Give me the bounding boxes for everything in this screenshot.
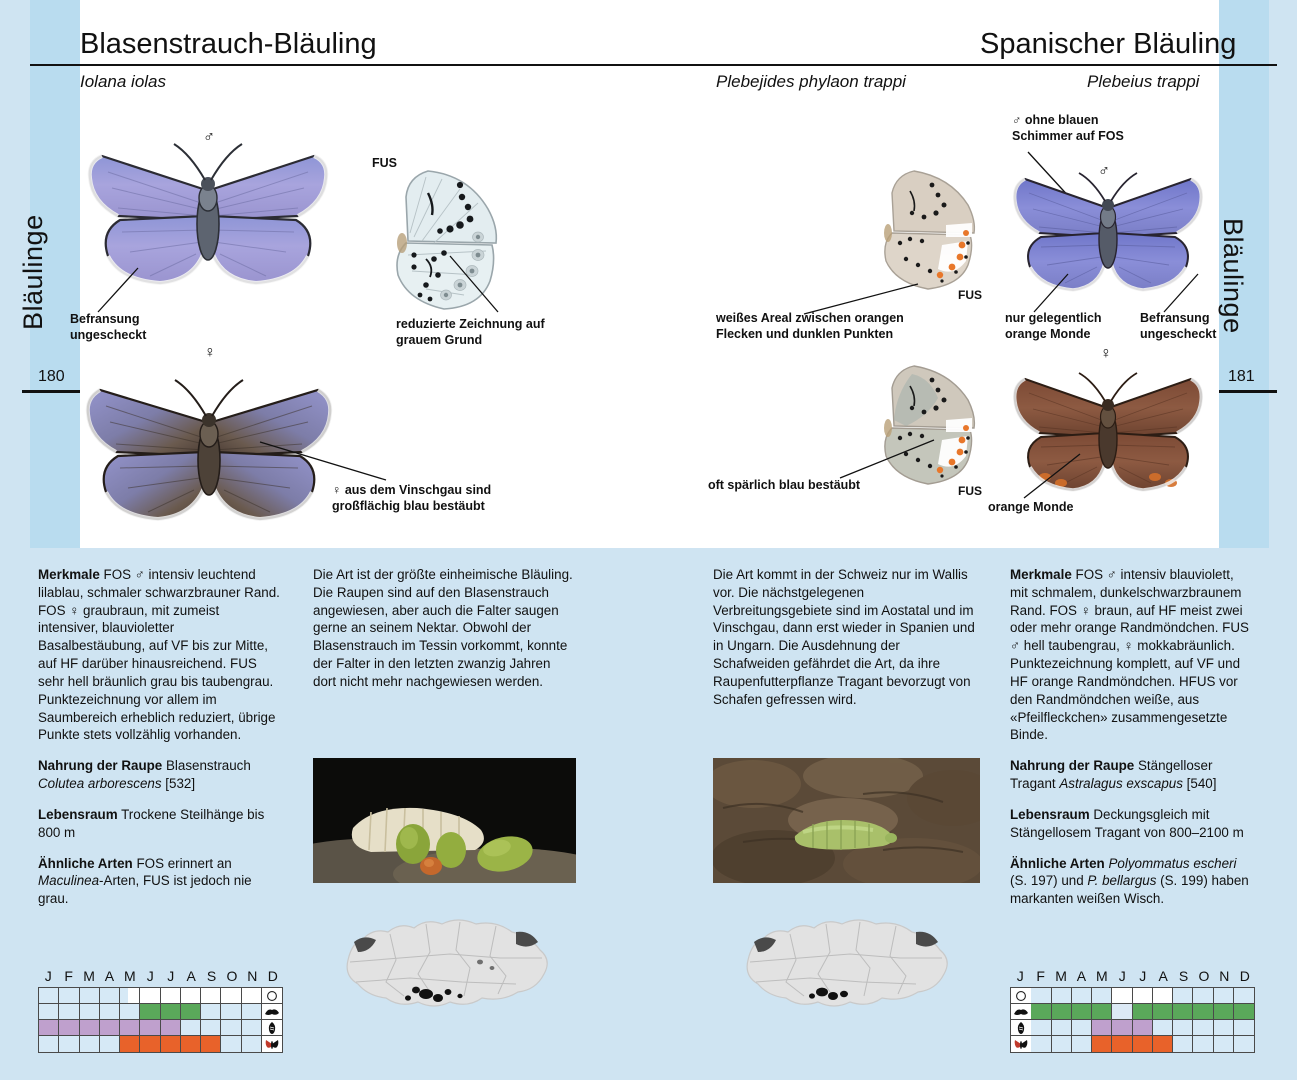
photo-caterpillar-with-pods: [313, 758, 576, 883]
distribution-map-left: [330, 898, 570, 1033]
month-label: N: [242, 968, 262, 984]
label-merkmale-right: Merkmale: [1010, 567, 1072, 582]
calendar-cell: [1153, 1036, 1173, 1052]
annotation-orange-monde: orange Monde: [988, 500, 1073, 516]
month-label: A: [1153, 968, 1173, 984]
calendar-row-caterpillar: [1011, 1004, 1254, 1020]
pupa-icon: [1011, 1020, 1031, 1035]
annotation-weisses-areal: weißes Areal zwischen orangen Flecken un…: [716, 311, 904, 342]
calendar-cell: [242, 1036, 262, 1052]
calendar-cell: [221, 988, 241, 1003]
calendar-cells: [39, 1036, 282, 1052]
calendar-cell: [1031, 1020, 1051, 1035]
calendar-cell: [1031, 1036, 1051, 1052]
calendar-cell: [161, 1004, 181, 1019]
calendar-row-pupa: [39, 1020, 282, 1036]
label-nahrung-right: Nahrung der Raupe: [1010, 758, 1134, 773]
calendar-cell: [242, 1004, 262, 1019]
calendar-cell: [39, 988, 59, 1003]
calendar-cell: [1193, 1020, 1213, 1035]
page-number-rule-left: [22, 390, 80, 393]
female-symbol-left-lower: ♀: [204, 344, 216, 362]
month-label: O: [1194, 968, 1214, 984]
calendar-cell: [120, 1020, 140, 1035]
butterfly-iolas-male-upperside: [78, 120, 338, 310]
calendar-cell: [80, 1020, 100, 1035]
calendar-cell: [1234, 1020, 1254, 1035]
annotation-gelegentlich-line1: nur gelegentlich: [1005, 311, 1102, 325]
calendar-cells: [39, 1004, 282, 1019]
annotation-schimmer-line1: ♂ ohne blauen: [1012, 113, 1098, 127]
paragraph-lebensraum-right: Lebensraum Deckungsgleich mit Stängellos…: [1010, 806, 1253, 842]
calendar-cell: [181, 1036, 201, 1052]
female-symbol-right-lower: ♀: [1100, 345, 1112, 363]
calendar-cell: [1133, 1036, 1153, 1052]
calendar-cell: [1112, 988, 1132, 1003]
month-label: F: [1030, 968, 1050, 984]
calendar-cell: [1193, 1004, 1213, 1019]
calendar-cell: [161, 1020, 181, 1035]
calendar-cell: [1133, 988, 1153, 1003]
page-number-right: 181: [1228, 368, 1255, 386]
butterfly-trappi-male-underside: [880, 165, 992, 295]
header-rule-left: [30, 64, 700, 66]
annotation-vinschgau: ♀ aus dem Vinschgau sind großflächig bla…: [332, 483, 491, 514]
calendar-cell: [1052, 1004, 1072, 1019]
text-column-narrative-right: Die Art kommt in der Schweiz nur im Wall…: [713, 566, 978, 709]
calendar-cell: [161, 988, 181, 1003]
calendar-cell: [1214, 1004, 1234, 1019]
calendar-cell: [1193, 988, 1213, 1003]
label-lebensraum-right: Lebensraum: [1010, 807, 1090, 822]
text-column-narrative-left: Die Art ist der größte einheimische Bläu…: [313, 566, 575, 691]
calendar-cell: [1173, 1036, 1193, 1052]
paragraph-nahrung-left: Nahrung der Raupe Blasenstrauch Colutea …: [38, 757, 281, 793]
annotation-reduzierte-line2: grauem Grund: [396, 333, 482, 347]
calendar-cell: [1092, 1036, 1112, 1052]
calendar-cells: [1011, 1020, 1254, 1035]
body-aehnliche-right-italic2: P. bellargus: [1087, 873, 1156, 888]
calendar-cell: [1092, 988, 1112, 1003]
calendar-cell: [1234, 1036, 1254, 1052]
month-label: J: [1010, 968, 1030, 984]
annotation-weisses-areal-line1: weißes Areal zwischen orangen: [716, 311, 904, 325]
month-label: A: [99, 968, 119, 984]
scientific-name-right-primary: Plebejides phylaon trappi: [716, 72, 906, 92]
calendar-cells: [1011, 988, 1254, 1003]
month-label: J: [1132, 968, 1152, 984]
male-symbol-left-upper: ♂: [203, 129, 215, 147]
calendar-cell: [1031, 988, 1051, 1003]
calendar-cell: [201, 988, 221, 1003]
calendar-cell: [181, 1020, 201, 1035]
calendar-cell: [1072, 1036, 1092, 1052]
calendar-row-butterfly: [1011, 1036, 1254, 1052]
annotation-spaerlich-blau: oft spärlich blau bestäubt: [708, 478, 860, 494]
annotation-vinschgau-line2: großflächig blau bestäubt: [332, 499, 485, 513]
calendar-cell: [100, 1036, 120, 1052]
calendar-cell: [1112, 1004, 1132, 1019]
annotation-schimmer-line2: Schimmer auf FOS: [1012, 129, 1124, 143]
calendar-cell: [1214, 1020, 1234, 1035]
body-aehnliche-left-pre: FOS erinnert an: [133, 856, 232, 871]
calendar-cell: [80, 988, 100, 1003]
butterfly-iolas-female-upperside: [78, 360, 340, 540]
calendar-cell: [80, 1036, 100, 1052]
month-label: M: [79, 968, 99, 984]
calendar-cell: [1153, 988, 1173, 1003]
month-label: S: [1173, 968, 1193, 984]
section-tab-label-left: Bläulinge: [18, 214, 49, 330]
butterfly-icon: [1011, 1036, 1031, 1052]
calendar-cell: [221, 1004, 241, 1019]
calendar-cell: [1214, 988, 1234, 1003]
calendar-cell: [1112, 1036, 1132, 1052]
body-aehnliche-right-mid: (S. 197) und: [1010, 873, 1087, 888]
annotation-reduzierte-zeichnung: reduzierte Zeichnung auf grauem Grund: [396, 317, 545, 348]
month-label: M: [1092, 968, 1112, 984]
calendar-cell: [80, 1004, 100, 1019]
annotation-gelegentlich-orange-monde: nur gelegentlich orange Monde: [1005, 311, 1102, 342]
annotation-befransung-right-line2: ungescheckt: [1140, 327, 1216, 341]
page-number-left: 180: [38, 368, 65, 386]
body-merkmale-left: FOS ♂ intensiv leuchtend lilablau, schma…: [38, 567, 280, 742]
calendar-grid-left: [38, 987, 283, 1053]
annotation-weisses-areal-line2: Flecken und dunklen Punkten: [716, 327, 893, 341]
header-rule-right: [700, 64, 1277, 66]
annotation-gelegentlich-line2: orange Monde: [1005, 327, 1090, 341]
annotation-reduzierte-line1: reduzierte Zeichnung auf: [396, 317, 545, 331]
calendar-cell: [201, 1020, 221, 1035]
text-column-merkmale-right: Merkmale FOS ♂ intensiv blauviolett, mit…: [1010, 566, 1253, 908]
calendar-cell: [59, 1036, 79, 1052]
calendar-cell: [59, 1004, 79, 1019]
month-label: J: [140, 968, 160, 984]
month-label: A: [181, 968, 201, 984]
calendar-cell: [1133, 1020, 1153, 1035]
label-merkmale-left: Merkmale: [38, 567, 100, 582]
calendar-cell: [181, 1004, 201, 1019]
label-aehnliche-left: Ähnliche Arten: [38, 856, 133, 871]
month-label: A: [1071, 968, 1091, 984]
body-nahrung-right-post: [540]: [1183, 776, 1217, 791]
male-symbol-right-upper: ♂: [1098, 163, 1110, 181]
book-spread: Bläulinge Bläulinge 180 181 Blasenstrauc…: [0, 0, 1297, 1080]
calendar-cell: [1031, 1004, 1051, 1019]
month-label: J: [160, 968, 180, 984]
calendar-cell: [242, 1020, 262, 1035]
calendar-cell: [59, 988, 79, 1003]
scientific-name-right-secondary: Plebeius trappi: [1087, 72, 1199, 92]
calendar-cell: [201, 1004, 221, 1019]
paragraph-nahrung-right: Nahrung der Raupe Stängelloser Tragant A…: [1010, 757, 1253, 793]
body-merkmale-right: FOS ♂ intensiv blauviolett, mit schmalem…: [1010, 567, 1249, 742]
calendar-cell: [1173, 1020, 1193, 1035]
calendar-cell: [140, 1036, 160, 1052]
label-lebensraum-left: Lebensraum: [38, 807, 118, 822]
egg-icon: [262, 988, 282, 1003]
calendar-cell: [100, 988, 120, 1003]
calendar-cell: [1234, 988, 1254, 1003]
month-label: J: [1112, 968, 1132, 984]
calendar-cell: [242, 988, 262, 1003]
calendar-row-caterpillar: [39, 1004, 282, 1020]
calendar-cell: [201, 1036, 221, 1052]
calendar-cell: [140, 1004, 160, 1019]
calendar-cell: [1072, 1020, 1092, 1035]
calendar-cell: [140, 988, 160, 1003]
calendar-cell: [100, 1020, 120, 1035]
calendar-cell: [1173, 1004, 1193, 1019]
calendar-row-butterfly: [39, 1036, 282, 1052]
calendar-cell: [1072, 988, 1092, 1003]
calendar-cell: [39, 1036, 59, 1052]
scientific-name-left: Iolana iolas: [80, 72, 166, 92]
calendar-cell: [39, 1020, 59, 1035]
caterpillar-icon: [262, 1004, 282, 1019]
calendar-cell: [1193, 1036, 1213, 1052]
calendar-cell: [1234, 1004, 1254, 1019]
body-nahrung-left-post: [532]: [162, 776, 196, 791]
month-label: O: [222, 968, 242, 984]
phenology-calendar-right: J F M A M J J A S O N D: [1010, 968, 1255, 1053]
fus-label-left: FUS: [372, 156, 397, 172]
section-tab-label-right: Bläulinge: [1217, 218, 1248, 334]
paragraph-lebensraum-left: Lebensraum Trockene Steilhänge bis 800 m: [38, 806, 281, 842]
page-title-right: Spanischer Bläuling: [980, 28, 1236, 61]
month-label: D: [1235, 968, 1255, 984]
butterfly-icon: [262, 1036, 282, 1052]
calendar-cell: [1052, 1020, 1072, 1035]
calendar-cell: [221, 1036, 241, 1052]
paragraph-merkmale-left: Merkmale FOS ♂ intensiv leuchtend lilabl…: [38, 566, 281, 744]
label-nahrung-left: Nahrung der Raupe: [38, 758, 162, 773]
calendar-cell: [39, 1004, 59, 1019]
distribution-map-right: [730, 898, 970, 1033]
egg-icon: [1011, 988, 1031, 1003]
calendar-cell: [1092, 1004, 1112, 1019]
calendar-cell: [1153, 1004, 1173, 1019]
month-label: J: [38, 968, 58, 984]
annotation-vinschgau-line1: ♀ aus dem Vinschgau sind: [332, 483, 491, 497]
calendar-cells: [1011, 1004, 1254, 1019]
pupa-icon: [262, 1020, 282, 1035]
paragraph-narrative-right: Die Art kommt in der Schweiz nur im Wall…: [713, 566, 978, 709]
month-label: M: [1051, 968, 1071, 984]
calendar-cell: [140, 1020, 160, 1035]
calendar-month-labels-left: J F M A M J J A S O N D: [38, 968, 283, 984]
caterpillar-icon: [1011, 1004, 1031, 1019]
calendar-cell: [1133, 1004, 1153, 1019]
body-aehnliche-right-italic1: Polyommatus escheri: [1108, 856, 1236, 871]
text-column-merkmale-left: Merkmale FOS ♂ intensiv leuchtend lilabl…: [38, 566, 281, 908]
paragraph-aehnliche-right: Ähnliche Arten Polyommatus escheri (S. 1…: [1010, 855, 1253, 908]
body-nahrung-left-pre: Blasenstrauch: [162, 758, 251, 773]
page-number-rule-right: [1219, 390, 1277, 393]
annotation-befransung-right: Befransung ungescheckt: [1140, 311, 1216, 342]
annotation-befransung-line2: ungescheckt: [70, 328, 146, 342]
calendar-grid-right: [1010, 987, 1255, 1053]
calendar-cell: [120, 1004, 140, 1019]
month-label: N: [1214, 968, 1234, 984]
calendar-cell: [181, 988, 201, 1003]
calendar-cell: [1153, 1020, 1173, 1035]
annotation-befransung-left: Befransung ungescheckt: [70, 312, 146, 343]
photo-caterpillar-on-ground: [713, 758, 980, 883]
butterfly-trappi-female-underside: [880, 360, 992, 492]
calendar-row-pupa: [1011, 1020, 1254, 1036]
calendar-cell: [1052, 988, 1072, 1003]
calendar-cell: [1092, 1020, 1112, 1035]
fus-label-right-lower: FUS: [958, 484, 982, 499]
calendar-month-labels-right: J F M A M J J A S O N D: [1010, 968, 1255, 984]
calendar-cell: [120, 988, 140, 1003]
calendar-cells: [1011, 1036, 1254, 1052]
calendar-cell: [1052, 1036, 1072, 1052]
month-label: F: [58, 968, 78, 984]
page-title-left: Blasenstrauch-Bläuling: [80, 28, 377, 61]
calendar-cell: [59, 1020, 79, 1035]
paragraph-narrative-left: Die Art ist der größte einheimische Bläu…: [313, 566, 575, 691]
annotation-befransung-right-line1: Befransung: [1140, 311, 1209, 325]
month-label: D: [263, 968, 283, 984]
calendar-cell: [161, 1036, 181, 1052]
annotation-befransung-line1: Befransung: [70, 312, 139, 326]
month-label: M: [120, 968, 140, 984]
phenology-calendar-left: J F M A M J J A S O N D: [38, 968, 283, 1053]
body-aehnliche-left-italic: Maculinea: [38, 873, 99, 888]
calendar-cell: [221, 1020, 241, 1035]
body-nahrung-left-italic: Colutea arborescens: [38, 776, 162, 791]
calendar-cells: [39, 1020, 282, 1035]
paragraph-aehnliche-left: Ähnliche Arten FOS erinnert an Maculinea…: [38, 855, 281, 908]
calendar-cell: [1173, 988, 1193, 1003]
label-aehnliche-right: Ähnliche Arten: [1010, 856, 1105, 871]
calendar-cell: [100, 1004, 120, 1019]
calendar-cell: [1072, 1004, 1092, 1019]
annotation-ohne-blauen-schimmer: ♂ ohne blauen Schimmer auf FOS: [1012, 113, 1124, 144]
calendar-row-egg: [1011, 988, 1254, 1004]
calendar-row-egg: [39, 988, 282, 1004]
paragraph-merkmale-right: Merkmale FOS ♂ intensiv blauviolett, mit…: [1010, 566, 1253, 744]
calendar-cell: [120, 1036, 140, 1052]
fus-label-right-upper: FUS: [958, 288, 982, 303]
butterfly-iolas-underside: [392, 163, 522, 318]
calendar-cell: [1214, 1036, 1234, 1052]
butterfly-trappi-female-upperside: [1005, 355, 1211, 505]
month-label: S: [201, 968, 221, 984]
calendar-cell: [1112, 1020, 1132, 1035]
body-nahrung-right-italic: Astralagus exscapus: [1059, 776, 1183, 791]
calendar-cells: [39, 988, 282, 1003]
